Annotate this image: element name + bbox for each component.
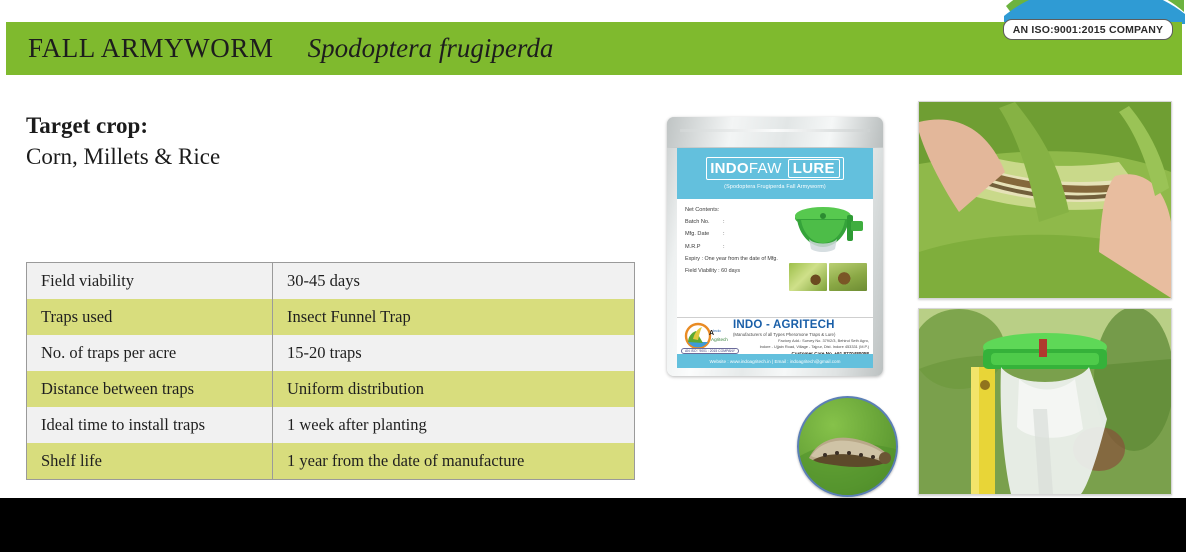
packet-address-line-2: Indore - Ujjain Road, Village - Tajpur, … (733, 344, 869, 349)
spec-value-cell: 15-20 traps (273, 335, 635, 371)
packet-zip-top (667, 117, 883, 148)
table-row: Ideal time to install traps1 week after … (27, 407, 635, 443)
target-crop-value: Corn, Millets & Rice (26, 143, 446, 172)
spec-value-cell: Insect Funnel Trap (273, 299, 635, 335)
packet-info-body: Net Contents:Batch No.:Mfg. Date:M.R.P:E… (677, 199, 873, 317)
spec-label-cell: Traps used (27, 299, 273, 335)
svg-text:Indo: Indo (713, 328, 722, 333)
spec-value-cell: 1 week after planting (273, 407, 635, 443)
packet-field-row: Mfg. Date: (685, 231, 789, 237)
packet-address-line-1: Factory Add.: Survey No. 379/2/3, Behind… (733, 338, 869, 343)
indo-agritech-logo-icon: A Indo Agritech (683, 321, 729, 351)
packet-field-colon: : (723, 231, 725, 237)
packet-company-block: A Indo Agritech INDO - AGRITECH (Manufac… (677, 317, 873, 355)
target-crop-block: Target crop: Corn, Millets & Rice (26, 112, 446, 172)
packet-header-band: INDO FAW LURE (Spodoptera Frugiperda Fal… (677, 148, 873, 199)
spec-value-cell: 30-45 days (273, 263, 635, 300)
spec-label-cell: No. of traps per acre (27, 335, 273, 371)
packet-label-face: INDO FAW LURE (Spodoptera Frugiperda Fal… (677, 148, 873, 368)
packet-field-key: Net Contents: (685, 207, 721, 213)
bottom-black-bar (0, 498, 1186, 552)
packet-field-colon: : (723, 219, 725, 225)
packet-expiry-line: Expiry : One year from the date of Mfg. (685, 256, 789, 262)
spec-value-cell: Uniform distribution (273, 371, 635, 407)
spec-value-cell: 1 year from the date of manufacture (273, 443, 635, 480)
spec-label-cell: Field viability (27, 263, 273, 300)
packet-field-key: Mfg. Date (685, 231, 721, 237)
packet-website-bar: Website : www.indoagritech.in | Email : … (677, 354, 873, 368)
table-row: Distance between trapsUniform distributi… (27, 371, 635, 407)
packet-field-colon: : (723, 244, 725, 250)
packet-field-key: Batch No. (685, 219, 721, 225)
packet-field-row: M.R.P: (685, 244, 789, 250)
product-packet-image: INDO FAW LURE (Spodoptera Frugiperda Fal… (667, 117, 883, 376)
packet-viability-line: Field Viability : 60 days (685, 268, 789, 274)
packet-subtitle: (Spodoptera Frugiperda Fall Armyworm) (724, 184, 826, 190)
packet-field-row: Net Contents: (685, 207, 789, 213)
installed-funnel-trap-in-field-photo (918, 308, 1172, 495)
packet-field-row: Batch No.: (685, 219, 789, 225)
svg-text:Agritech: Agritech (711, 337, 728, 342)
spec-label-cell: Distance between traps (27, 371, 273, 407)
mini-photo-larva-on-leaf (789, 263, 827, 291)
packet-mini-photos (789, 263, 867, 291)
table-row: Shelf life1 year from the date of manufa… (27, 443, 635, 480)
mini-photo-moth (829, 263, 867, 291)
table-row: Traps usedInsect Funnel Trap (27, 299, 635, 335)
pest-common-name: FALL ARMYWORM (28, 33, 274, 64)
brand-indo-text: INDO (710, 160, 749, 177)
fall-armyworm-larva-photo (797, 396, 898, 497)
table-row: Field viability30-45 days (27, 263, 635, 300)
packet-company-tagline: (Manufacturers of all Types Pheromone Tr… (733, 332, 869, 337)
spec-label-cell: Ideal time to install traps (27, 407, 273, 443)
packet-brand-lockup: INDO FAW LURE (706, 157, 844, 180)
packet-field-key: M.R.P (685, 244, 721, 250)
corn-stalk-feeding-damage-photo (918, 101, 1172, 299)
green-funnel-trap-icon (789, 205, 867, 261)
iso-certification-badge: AN ISO:9001:2015 COMPANY (1003, 19, 1173, 40)
spec-label-cell: Shelf life (27, 443, 273, 480)
target-crop-label: Target crop: (26, 112, 446, 141)
brand-lure-text: LURE (788, 159, 840, 178)
brand-faw-text: FAW (749, 160, 782, 177)
packet-field-list: Net Contents:Batch No.:Mfg. Date:M.R.P:E… (685, 207, 789, 280)
specification-table: Field viability30-45 daysTraps usedInsec… (26, 262, 635, 480)
table-row: No. of traps per acre15-20 traps (27, 335, 635, 371)
packet-company-name: INDO - AGRITECH (733, 319, 869, 331)
pest-scientific-name: Spodoptera frugiperda (308, 33, 554, 64)
